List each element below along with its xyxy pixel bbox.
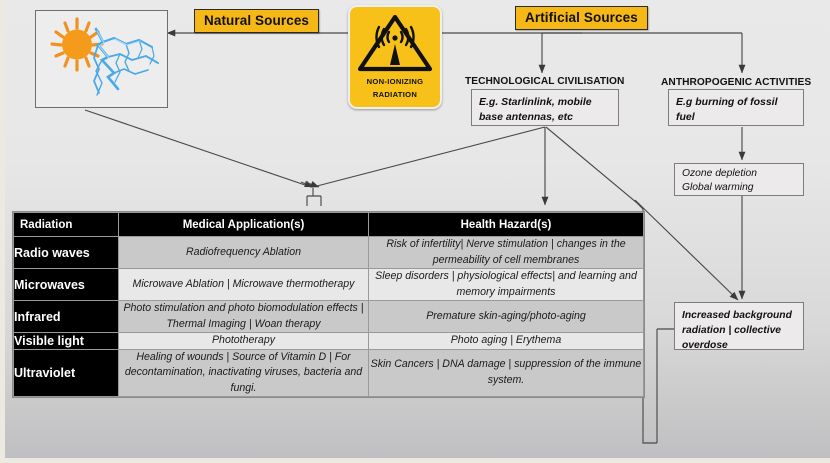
cell-hazard-visible-light: Photo aging | Erythema [369, 333, 644, 350]
artificial-sources-label[interactable]: Artificial Sources [515, 6, 648, 30]
cell-medical-infrared: Photo stimulation and photo biomodulatio… [119, 301, 369, 333]
technological-examples-box[interactable]: E.g. Starlinlink, mobile base antennas, … [471, 89, 619, 126]
natural-sources-label[interactable]: Natural Sources [194, 9, 319, 33]
table-row: Infrared Photo stimulation and photo bio… [14, 301, 644, 333]
cell-hazard-microwaves: Sleep disorders | physiological effects|… [369, 269, 644, 301]
row-label-radio-waves: Radio waves [14, 237, 119, 269]
header-health-hazard: Health Hazard(s) [369, 213, 644, 237]
anthropogenic-activities-heading: ANTHROPOGENIC ACTIVITIES [661, 77, 811, 88]
cell-hazard-infrared: Premature skin-aging/photo-aging [369, 301, 644, 333]
cell-medical-visible-light: Phototherapy [119, 333, 369, 350]
sun-lightning-illustration [36, 11, 167, 107]
row-label-ultraviolet: Ultraviolet [14, 349, 119, 397]
technological-civilisation-heading: TECHNOLOGICAL CIVILISATION [465, 76, 624, 87]
diagram-canvas: Natural Sources Artificial Sources NON-I… [5, 0, 830, 458]
sign-line-2: RADIATION [350, 90, 440, 99]
cell-hazard-radio-waves: Risk of infertility| Nerve stimulation |… [369, 237, 644, 269]
table-header-row: Radiation Medical Application(s) Health … [14, 213, 644, 237]
header-medical-application: Medical Application(s) [119, 213, 369, 237]
radiation-warning-triangle-icon [350, 9, 440, 75]
cell-medical-radio-waves: Radiofrequency Ablation [119, 237, 369, 269]
row-label-microwaves: Microwaves [14, 269, 119, 301]
table-row: Visible light Phototherapy Photo aging |… [14, 333, 644, 350]
table-row: Radio waves Radiofrequency Ablation Risk… [14, 237, 644, 269]
ozone-line-2: Global warming [682, 181, 796, 195]
table-row: Ultraviolet Healing of wounds | Source o… [14, 349, 644, 397]
radiation-table: Radiation Medical Application(s) Health … [13, 212, 644, 397]
natural-sources-image [35, 10, 168, 108]
row-label-visible-light: Visible light [14, 333, 119, 350]
cell-medical-microwaves: Microwave Ablation | Microwave thermothe… [119, 269, 369, 301]
sign-line-1: NON-IONIZING [350, 77, 440, 86]
cell-medical-ultraviolet: Healing of wounds | Source of Vitamin D … [119, 349, 369, 397]
header-radiation: Radiation [14, 213, 119, 237]
ozone-depletion-box[interactable]: Ozone depletion Global warming [674, 163, 804, 196]
increased-background-radiation-box[interactable]: Increased background radiation | collect… [674, 302, 804, 350]
row-label-infrared: Infrared [14, 301, 119, 333]
lightning-icon [94, 29, 158, 95]
ozone-line-1: Ozone depletion [682, 167, 796, 181]
anthropogenic-examples-box[interactable]: E.g burning of fossil fuel [668, 89, 804, 126]
non-ionizing-radiation-sign[interactable]: NON-IONIZING RADIATION [348, 5, 442, 109]
cell-hazard-ultraviolet: Skin Cancers | DNA damage | suppression … [369, 349, 644, 397]
table-row: Microwaves Microwave Ablation | Microwav… [14, 269, 644, 301]
